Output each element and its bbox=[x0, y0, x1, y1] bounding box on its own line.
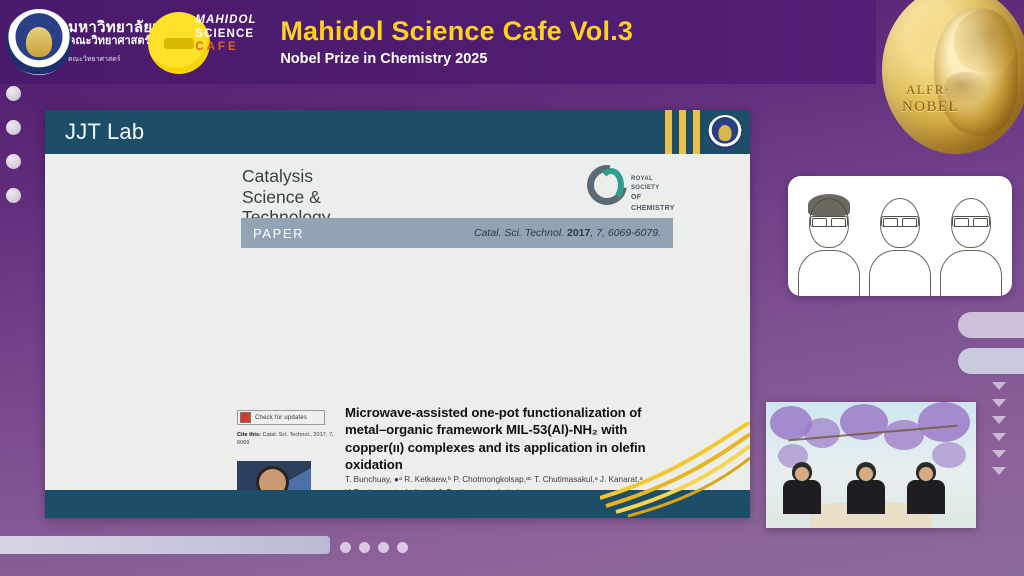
slide-footer-bar bbox=[45, 490, 750, 518]
medal-inscription-line2: NOBEL bbox=[902, 98, 998, 117]
citation-rest: , 7, 6069-6079. bbox=[590, 227, 661, 239]
left-decorative-dots bbox=[6, 86, 21, 222]
triangle-icon bbox=[992, 433, 1006, 441]
speaker-head bbox=[916, 462, 936, 482]
rsc-ring-inner-icon bbox=[598, 168, 624, 202]
paper-type-band: PAPER Catal. Sci. Technol. 2017, 7, 6069… bbox=[241, 218, 673, 248]
header-stripe bbox=[679, 110, 686, 154]
speaker-center bbox=[856, 462, 885, 514]
laureate-portrait bbox=[868, 192, 932, 296]
speakers-video-panel[interactable] bbox=[766, 402, 976, 528]
speaker-right bbox=[916, 462, 945, 514]
laureate-portrait bbox=[797, 192, 861, 296]
slide-title: JJT Lab bbox=[65, 119, 144, 145]
rsc-logo-line2: OF CHEMISTRY bbox=[631, 194, 675, 212]
speaker-face bbox=[919, 467, 933, 481]
decor-dot bbox=[6, 86, 21, 101]
cite-this-block: Cite this: Catal. Sci. Technol., 2017, 7… bbox=[237, 431, 337, 448]
citation-year: 2017 bbox=[567, 227, 590, 239]
right-decor-bar bbox=[958, 312, 1024, 338]
speaker-body bbox=[847, 480, 885, 514]
portrait-body bbox=[869, 250, 931, 296]
medal-portrait-hair bbox=[954, 10, 1016, 72]
triangle-decor-column bbox=[992, 382, 1006, 484]
check-for-updates-button[interactable]: Check for updates bbox=[237, 410, 325, 425]
journal-name-line2: Science & bbox=[242, 187, 331, 208]
mahidol-science-cafe-logo: MAHIDOL SCIENCE CAFE bbox=[148, 6, 266, 78]
speaker-face bbox=[859, 467, 873, 481]
speaker-left bbox=[792, 462, 821, 514]
triangle-icon bbox=[992, 382, 1006, 390]
triangle-icon bbox=[992, 450, 1006, 458]
mahidol-seal-icon bbox=[708, 115, 742, 149]
page-dot[interactable] bbox=[340, 542, 351, 553]
header-stripe bbox=[665, 110, 672, 154]
cite-this-label: Cite this: bbox=[237, 432, 261, 438]
portrait-hair bbox=[808, 194, 850, 216]
page-dot[interactable] bbox=[378, 542, 389, 553]
banner-subtitle: Nobel Prize in Chemistry 2025 bbox=[280, 51, 633, 67]
decor-dot bbox=[6, 154, 21, 169]
top-banner: มหาวิทยาลัยมหิดล คณะวิทยาศาสตร์ คณะวิทยา… bbox=[0, 0, 876, 84]
speaker-head bbox=[856, 462, 876, 482]
speaker-head bbox=[792, 462, 812, 482]
glasses-icon bbox=[810, 216, 848, 227]
banner-text-block: Mahidol Science Cafe Vol.3 Nobel Prize i… bbox=[280, 17, 633, 67]
cafe-logo-line3: CAFE bbox=[195, 41, 256, 55]
speaker-body bbox=[907, 480, 945, 514]
slide-header-bar: JJT Lab bbox=[45, 110, 750, 154]
rsc-logo-text: ROYAL SOCIETY OF CHEMISTRY bbox=[631, 175, 681, 214]
page-dot[interactable] bbox=[397, 542, 408, 553]
portrait-body bbox=[940, 250, 1002, 296]
decor-dot bbox=[6, 188, 21, 203]
page-dot[interactable] bbox=[359, 542, 370, 553]
nobel-medal-image: ALFR· NOBEL bbox=[880, 0, 1024, 168]
glasses-icon bbox=[881, 216, 919, 227]
crossmark-icon bbox=[240, 412, 251, 423]
banner-title: Mahidol Science Cafe Vol.3 bbox=[280, 17, 633, 45]
cafe-logo-line1: MAHIDOL bbox=[195, 14, 256, 28]
mahidol-university-seal-icon bbox=[6, 9, 72, 75]
glasses-icon bbox=[952, 216, 990, 227]
medal-inscription: ALFR· NOBEL bbox=[906, 82, 998, 117]
gold-swoosh-decor bbox=[600, 422, 750, 518]
check-for-updates-label: Check for updates bbox=[255, 415, 307, 421]
citation-journal: Catal. Sci. Technol. bbox=[474, 227, 564, 239]
triangle-icon bbox=[992, 399, 1006, 407]
right-decor-bar bbox=[958, 348, 1024, 374]
triangle-icon bbox=[992, 416, 1006, 424]
decor-dot bbox=[6, 120, 21, 135]
presentation-slide: JJT Lab Catalysis Science & Technology R… bbox=[45, 110, 750, 518]
paper-citation: Catal. Sci. Technol. 2017, 7, 6069-6079. bbox=[474, 227, 661, 239]
triangle-icon bbox=[992, 467, 1006, 475]
bottom-progress-bar[interactable] bbox=[0, 536, 330, 554]
speaker-face bbox=[795, 467, 809, 481]
bottom-dot-indicators[interactable] bbox=[340, 542, 408, 553]
rsc-logo-line1: ROYAL SOCIETY bbox=[631, 175, 681, 193]
flower-blossom bbox=[804, 418, 840, 448]
flower-blossom bbox=[918, 402, 970, 442]
cafe-logo-words: MAHIDOL SCIENCE CAFE bbox=[195, 14, 256, 55]
cafe-logo-line2: SCIENCE bbox=[195, 28, 256, 42]
header-stripe bbox=[693, 110, 700, 154]
paper-type-label: PAPER bbox=[253, 226, 304, 241]
royal-society-of-chemistry-logo: ROYAL SOCIETY OF CHEMISTRY bbox=[585, 162, 681, 208]
laureate-portrait bbox=[939, 192, 1003, 296]
journal-name-line1: Catalysis bbox=[242, 166, 331, 187]
nobel-laureates-card bbox=[788, 176, 1012, 296]
medal-inscription-line1: ALFR· bbox=[906, 82, 998, 98]
speaker-body bbox=[783, 480, 821, 514]
portrait-body bbox=[798, 250, 860, 296]
